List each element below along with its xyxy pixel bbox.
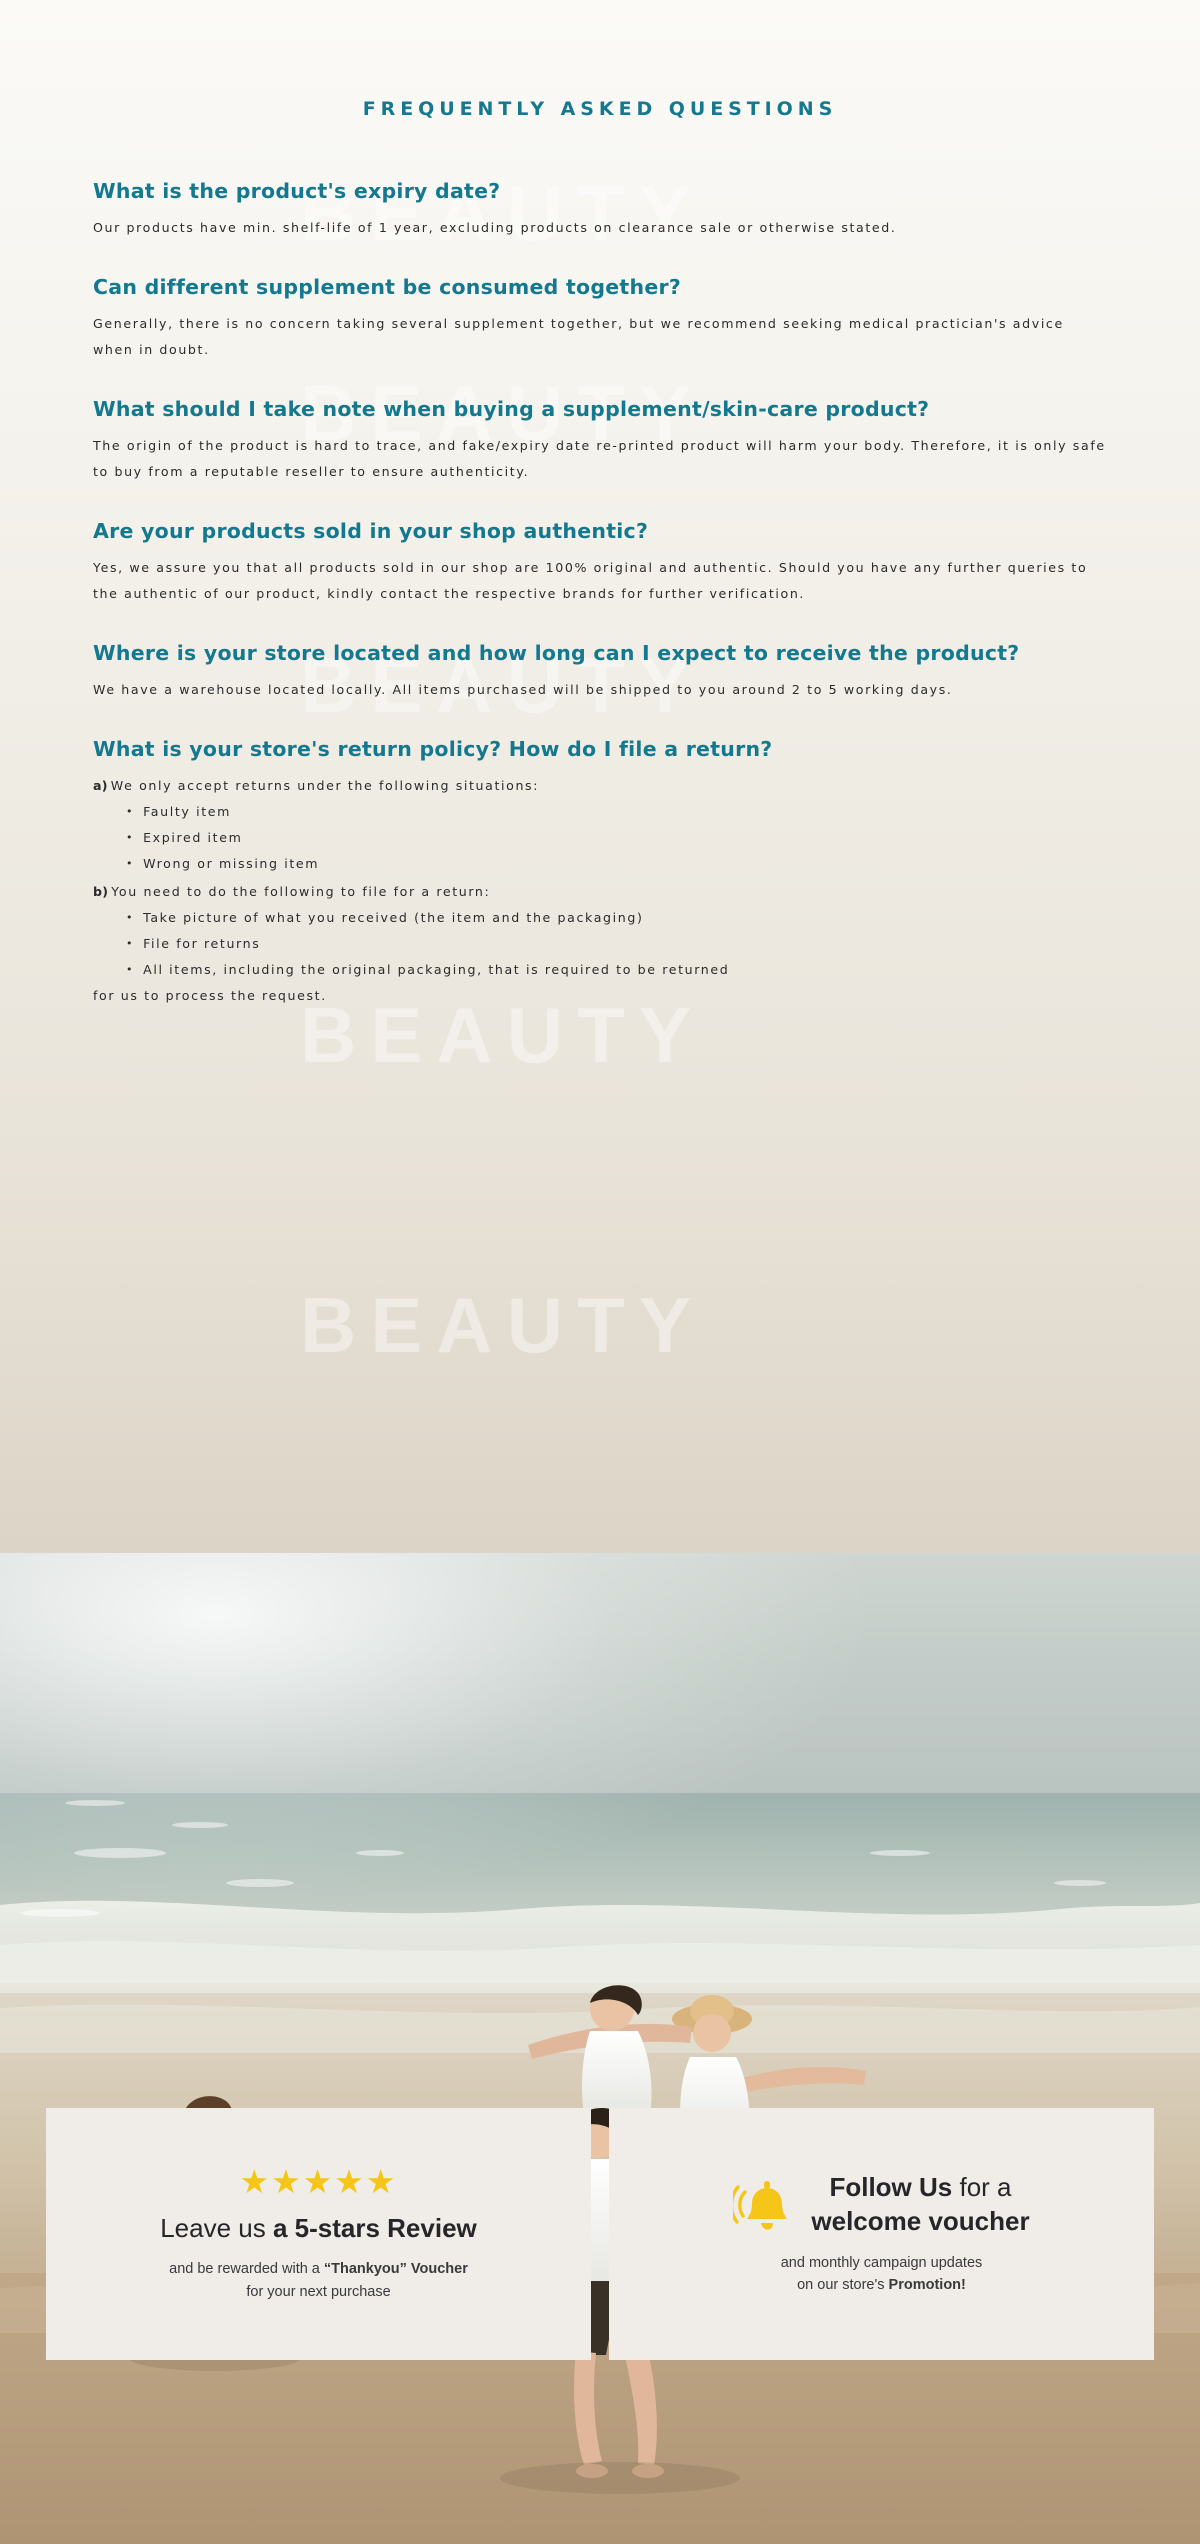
review-card-body: and be rewarded with a “Thankyou” Vouche…: [169, 2258, 468, 2303]
faq-item: Where is your store located and how long…: [93, 638, 1107, 703]
review-card[interactable]: ★★★★★ Leave us a 5-stars Review and be r…: [46, 2108, 591, 2360]
faq-item: What is the product's expiry date? Our p…: [93, 176, 1107, 241]
return-group-intro: a)We only accept returns under the follo…: [93, 773, 1107, 799]
return-bullet-list: Faulty item Expired item Wrong or missin…: [126, 799, 1107, 877]
list-item: All items, including the original packag…: [126, 957, 1107, 983]
follow-heading-plain: for a: [952, 2172, 1011, 2202]
faq-question: Can different supplement be consumed tog…: [93, 272, 1107, 302]
review-body-line2: for your next purchase: [246, 2284, 390, 2300]
list-item: Wrong or missing item: [126, 851, 1107, 877]
list-item: Faulty item: [126, 799, 1107, 825]
return-group-intro: b)You need to do the following to file f…: [93, 879, 1107, 905]
follow-body-line2-plain: on our store's: [797, 2277, 888, 2293]
review-heading-plain: Leave us: [160, 2213, 273, 2243]
return-bullet-list: Take picture of what you received (the i…: [126, 905, 1107, 983]
follow-card-body: and monthly campaign updates on our stor…: [781, 2252, 983, 2297]
follow-card-heading: Follow Us for a welcome voucher: [811, 2171, 1029, 2239]
faq-question: Where is your store located and how long…: [93, 638, 1107, 668]
faq-item: Can different supplement be consumed tog…: [93, 272, 1107, 363]
follow-card[interactable]: Follow Us for a welcome voucher and mont…: [609, 2108, 1154, 2360]
review-card-heading: Leave us a 5-stars Review: [160, 2211, 477, 2245]
review-heading-bold: a 5-stars Review: [273, 2213, 477, 2243]
return-group: a)We only accept returns under the follo…: [93, 773, 1107, 877]
follow-heading-bold-a: Follow Us: [829, 2172, 952, 2202]
list-item: Expired item: [126, 825, 1107, 851]
list-item: Take picture of what you received (the i…: [126, 905, 1107, 931]
beach-photo: [0, 1553, 1200, 2544]
beach-illustration: [0, 1553, 1200, 2544]
faq-question: What should I take note when buying a su…: [93, 394, 1107, 424]
return-policy-tail: for us to process the request.: [93, 983, 1107, 1009]
return-group-label: b): [93, 884, 108, 899]
faq-list: What is the product's expiry date? Our p…: [0, 176, 1200, 1009]
follow-card-heading-row: Follow Us for a welcome voucher: [733, 2171, 1029, 2239]
return-group-text: You need to do the following to file for…: [111, 884, 490, 899]
faq-question: What is the product's expiry date?: [93, 176, 1107, 206]
watermark-beauty: BEAUTY: [300, 1280, 705, 1371]
faq-answer: The origin of the product is hard to tra…: [93, 433, 1107, 485]
faq-answer: Generally, there is no concern taking se…: [93, 311, 1107, 363]
return-group: b)You need to do the following to file f…: [93, 879, 1107, 1009]
review-body-plain: and be rewarded with a: [169, 2261, 324, 2277]
faq-item-return-policy: What is your store's return policy? How …: [93, 734, 1107, 1009]
faq-answer: Our products have min. shelf-life of 1 y…: [93, 215, 1107, 241]
list-item: File for returns: [126, 931, 1107, 957]
follow-body-line2-bold: Promotion!: [889, 2277, 966, 2293]
faq-section: BEAUTY BEAUTY BEAUTY BEAUTY BEAUTY FREQU…: [0, 0, 1200, 1553]
faq-item: What should I take note when buying a su…: [93, 394, 1107, 485]
follow-heading-bold-b: welcome voucher: [811, 2206, 1029, 2236]
review-body-bold: “Thankyou” Voucher: [324, 2261, 468, 2277]
faq-question: What is your store's return policy? How …: [93, 734, 1107, 764]
bell-icon: [733, 2176, 795, 2234]
follow-body-line1: and monthly campaign updates: [781, 2255, 983, 2271]
star-rating-icon: ★★★★★: [240, 2165, 398, 2198]
faq-item: Are your products sold in your shop auth…: [93, 516, 1107, 607]
faq-answer: Yes, we assure you that all products sol…: [93, 555, 1107, 607]
return-group-label: a): [93, 778, 108, 793]
promo-cards: ★★★★★ Leave us a 5-stars Review and be r…: [0, 2108, 1200, 2360]
return-group-text: We only accept returns under the followi…: [111, 778, 539, 793]
page-title: FREQUENTLY ASKED QUESTIONS: [0, 0, 1200, 120]
faq-question: Are your products sold in your shop auth…: [93, 516, 1107, 546]
faq-answer: We have a warehouse located locally. All…: [93, 677, 1107, 703]
